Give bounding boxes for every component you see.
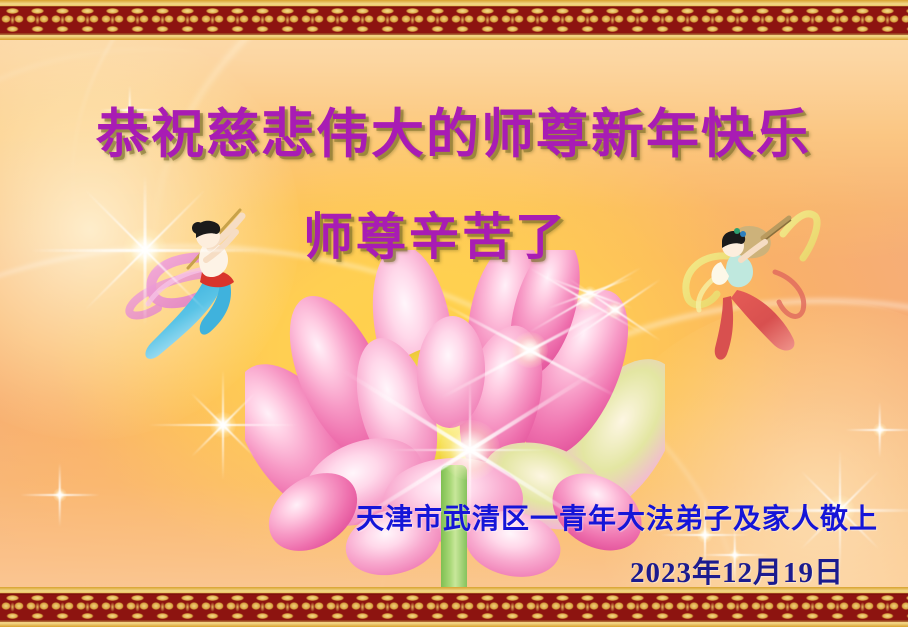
border-bottom-divider-lower bbox=[0, 620, 908, 622]
border-bottom-divider-upper bbox=[0, 593, 908, 595]
border-top bbox=[0, 0, 908, 40]
border-top-motifs bbox=[0, 7, 908, 33]
border-top-divider-upper bbox=[0, 6, 908, 8]
apsara-right-figure bbox=[665, 198, 830, 368]
greeting-card: 恭祝慈悲伟大的师尊新年快乐 师尊辛苦了 天津市武清区一青年大法弟子及家人敬上 2… bbox=[0, 0, 908, 627]
apsara-left-figure bbox=[118, 196, 268, 366]
border-bottom bbox=[0, 587, 908, 627]
lotus-flower bbox=[245, 250, 665, 590]
greeting-title-line-2: 师尊辛苦了 bbox=[303, 197, 568, 269]
border-bottom-motifs bbox=[0, 594, 908, 620]
signature-date: 2023年12月19日 bbox=[630, 549, 844, 591]
greeting-title-line-1: 恭祝慈悲伟大的师尊新年快乐 bbox=[96, 92, 811, 168]
signature-sender: 天津市武清区一青年大法弟子及家人敬上 bbox=[356, 497, 878, 537]
border-top-divider-lower bbox=[0, 33, 908, 35]
